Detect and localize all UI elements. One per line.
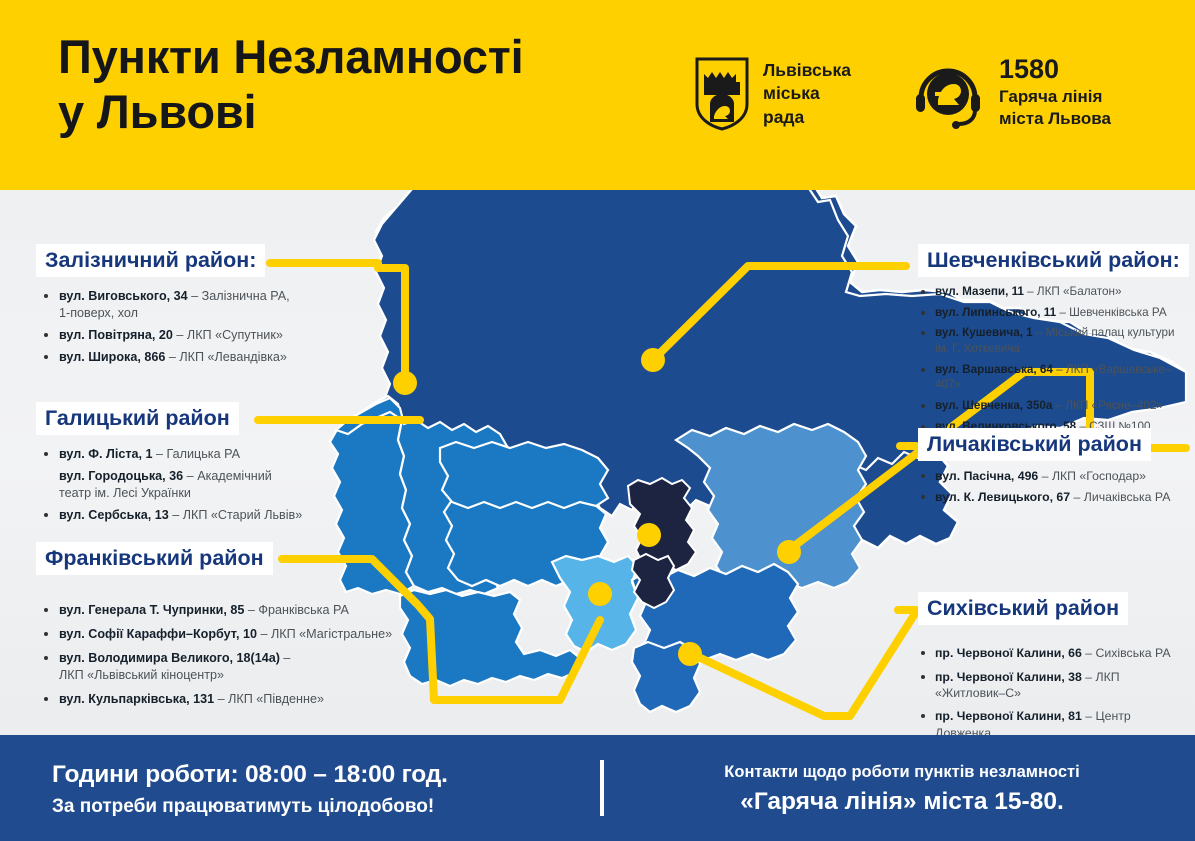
- poster-header: Пункти Незламності у Львові Львівська мі…: [0, 0, 1195, 190]
- list-item[interactable]: вул. Сербська, 13 – ЛКП «Старий Львів»: [36, 507, 366, 524]
- lviv-coat-of-arms-icon: [694, 56, 750, 132]
- list-item[interactable]: вул. Повітряна, 20 – ЛКП «Супутник»: [36, 327, 366, 344]
- page-title: Пункти Незламності у Львові: [58, 30, 523, 139]
- council-logo-text: Львівська міська рада: [763, 59, 851, 129]
- district-list-frankivskyi: вул. Генерала Т. Чупринки, 85 – Франківс…: [36, 602, 396, 707]
- district-block-zaliznychnyi: Залізничний район: вул. Виговського, 34 …: [36, 244, 366, 371]
- district-block-sykhivskyi: Сихівський район пр. Червоної Калини, 66…: [918, 592, 1186, 748]
- district-list-sykhivskyi: пр. Червоної Калини, 66 – Сихівська РА п…: [918, 645, 1186, 741]
- list-item[interactable]: вул. Широка, 866 – ЛКП «Левандівка»: [36, 349, 366, 366]
- list-item[interactable]: вул. Кушевича, 1 – Міський палац культур…: [918, 325, 1186, 356]
- list-item[interactable]: вул. Варшавська, 64 – ЛКП «Варшавське–40…: [918, 362, 1186, 393]
- hotline-number: 1580: [999, 56, 1111, 83]
- poster-footer: Години роботи: 08:00 – 18:00 год. За пот…: [0, 735, 1195, 841]
- district-heading-frankivskyi[interactable]: Франківський район: [36, 542, 273, 575]
- headset-lion-icon: [911, 56, 985, 130]
- working-hours-note: За потреби працюватимуть цілодобово!: [52, 796, 448, 818]
- list-item[interactable]: вул. Городоцька, 36 – Академічний театр …: [36, 468, 366, 502]
- district-heading-sykhivskyi[interactable]: Сихівський район: [918, 592, 1128, 625]
- list-item[interactable]: вул. Мазепи, 11 – ЛКП «Балатон»: [918, 284, 1186, 300]
- sykhivskyi-region-tail[interactable]: [632, 642, 700, 712]
- list-item[interactable]: вул. Липинського, 11 – Шевченківська РА: [918, 305, 1186, 321]
- hotline-text-block: 1580 Гаряча лінія міста Львова: [999, 56, 1111, 130]
- district-heading-zaliznychnyi[interactable]: Залізничний район:: [36, 244, 265, 277]
- district-list-halytskyi: вул. Ф. Ліста, 1 – Галицька РА вул. Горо…: [36, 446, 366, 524]
- district-block-shevchenkivskyi: Шевченківський район: вул. Мазепи, 11 – …: [918, 244, 1186, 439]
- infographic-poster: Пункти Незламності у Львові Львівська мі…: [0, 0, 1195, 841]
- list-item[interactable]: вул. Софії Караффи–Корбут, 10 – ЛКП «Маг…: [36, 626, 396, 643]
- district-block-halytskyi: Галицький район вул. Ф. Ліста, 1 – Галиц…: [36, 402, 366, 529]
- list-item[interactable]: вул. Володимира Великого, 18(14а) – ЛКП …: [36, 650, 396, 684]
- halytskyi-region[interactable]: [552, 556, 638, 652]
- district-block-lychakivskyi: Личаківський район вул. Пасічна, 496 – Л…: [918, 428, 1186, 509]
- district-list-lychakivskyi: вул. Пасічна, 496 – ЛКП «Господар» вул. …: [918, 468, 1186, 505]
- list-item[interactable]: вул. Кульпарківська, 131 – ЛКП «Південне…: [36, 691, 396, 708]
- district-heading-halytskyi[interactable]: Галицький район: [36, 402, 239, 435]
- halytskyi-region-north[interactable]: [440, 442, 608, 508]
- list-item[interactable]: пр. Червоної Калини, 66 – Сихівська РА: [918, 645, 1186, 661]
- lychakivskyi-region[interactable]: [676, 424, 866, 588]
- working-hours-main: Години роботи: 08:00 – 18:00 год.: [52, 761, 448, 789]
- list-item[interactable]: вул. Шевченка, 350а – ЛКП «Рясне–402»: [918, 398, 1186, 414]
- frankivskyi-region[interactable]: [400, 590, 580, 686]
- contacts-label: Контакти щодо роботи пунктів незламності: [662, 763, 1142, 782]
- list-item[interactable]: вул. Виговського, 34 – Залізнична РА, 1-…: [36, 288, 366, 322]
- list-item[interactable]: пр. Червоної Калини, 38 – ЛКП «Житловик–…: [918, 669, 1186, 702]
- list-item[interactable]: вул. Пасічна, 496 – ЛКП «Господар»: [918, 468, 1186, 484]
- hotline-logo: 1580 Гаряча лінія міста Львова: [911, 56, 1111, 130]
- lviv-city-council-logo: Львівська міська рада: [694, 56, 851, 132]
- hotline-subtitle: Гаряча лінія міста Львова: [999, 86, 1111, 130]
- list-item[interactable]: вул. Генерала Т. Чупринки, 85 – Франківс…: [36, 602, 396, 619]
- working-hours-block: Години роботи: 08:00 – 18:00 год. За пот…: [52, 761, 448, 818]
- contacts-block: Контакти щодо роботи пунктів незламності…: [662, 763, 1142, 816]
- list-item[interactable]: вул. Ф. Ліста, 1 – Галицька РА: [36, 446, 366, 463]
- district-block-frankivskyi: Франківський район вул. Генерала Т. Чупр…: [36, 542, 396, 714]
- footer-divider: [600, 760, 604, 816]
- district-list-shevchenkivskyi: вул. Мазепи, 11 – ЛКП «Балатон» вул. Лип…: [918, 284, 1186, 434]
- contacts-hotline: «Гаряча лінія» міста 15-80.: [662, 788, 1142, 816]
- center-region[interactable]: [628, 478, 696, 570]
- list-item[interactable]: вул. К. Левицького, 67 – Личаківська РА: [918, 489, 1186, 505]
- district-list-zaliznychnyi: вул. Виговського, 34 – Залізнична РА, 1-…: [36, 288, 366, 366]
- district-heading-shevchenkivskyi[interactable]: Шевченківський район:: [918, 244, 1189, 277]
- district-heading-lychakivskyi[interactable]: Личаківський район: [918, 428, 1151, 461]
